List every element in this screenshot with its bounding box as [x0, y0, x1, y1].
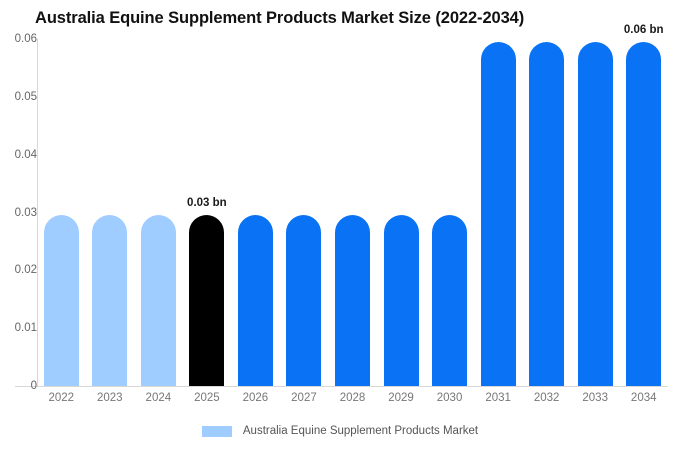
x-axis-tick-label: 2031 [473, 392, 523, 404]
bar[interactable] [92, 215, 127, 386]
bar-value-label: 0.06 bn [624, 24, 664, 36]
bar[interactable] [335, 215, 370, 386]
x-axis-tick-label: 2028 [328, 392, 378, 404]
x-axis-tick-label: 2026 [230, 392, 280, 404]
plot-area: 00.010.020.030.040.050.06 0.03 bn0.06 bn [37, 39, 668, 386]
y-axis: 00.010.020.030.040.050.06 [0, 39, 37, 386]
x-axis-tick-label: 2029 [376, 392, 426, 404]
bar[interactable] [286, 215, 321, 386]
y-axis-tick-label: 0.05 [0, 91, 37, 103]
x-axis-tick-label: 2032 [522, 392, 572, 404]
x-axis-line [15, 386, 668, 387]
y-axis-tick-label: 0.04 [0, 149, 37, 161]
y-axis-tick-label: 0 [0, 380, 37, 392]
y-axis-tick-label: 0.06 [0, 33, 37, 45]
bar-group [529, 39, 564, 386]
chart-title: Australia Equine Supplement Products Mar… [35, 9, 524, 28]
x-axis-tick-label: 2022 [36, 392, 86, 404]
x-axis-tick-label: 2027 [279, 392, 329, 404]
bar-group [92, 39, 127, 386]
bar[interactable] [384, 215, 419, 386]
bar-group [432, 39, 467, 386]
bar-group [141, 39, 176, 386]
bar-value-label: 0.03 bn [187, 197, 227, 209]
bar-group [238, 39, 273, 386]
y-axis-tick-label: 0.02 [0, 264, 37, 276]
x-axis-tick-label: 2023 [85, 392, 135, 404]
bar-group [335, 39, 370, 386]
bar[interactable] [432, 215, 467, 386]
legend-item-label: Australia Equine Supplement Products Mar… [243, 425, 478, 437]
legend-item[interactable]: Australia Equine Supplement Products Mar… [202, 425, 478, 437]
bar[interactable] [626, 42, 661, 386]
bar-group [384, 39, 419, 386]
chart-legend: Australia Equine Supplement Products Mar… [0, 425, 680, 437]
bar[interactable] [238, 215, 273, 386]
bar[interactable] [578, 42, 613, 386]
bar-group: 0.06 bn [626, 39, 661, 386]
bar[interactable] [44, 215, 79, 386]
bar-group [44, 39, 79, 386]
bar-group [481, 39, 516, 386]
bar[interactable] [529, 42, 564, 386]
x-axis-tick-label: 2030 [425, 392, 475, 404]
y-axis-tick-label: 0.01 [0, 322, 37, 334]
x-axis-tick-label: 2034 [619, 392, 669, 404]
y-axis-tick-label: 0.03 [0, 207, 37, 219]
legend-color-swatch [202, 426, 232, 437]
bar-chart: Australia Equine Supplement Products Mar… [0, 0, 680, 450]
bar[interactable] [481, 42, 516, 386]
x-axis-tick-label: 2025 [182, 392, 232, 404]
bar-group [286, 39, 321, 386]
x-axis-tick-label: 2024 [133, 392, 183, 404]
bar-group [578, 39, 613, 386]
x-axis-tick-label: 2033 [570, 392, 620, 404]
bar[interactable] [141, 215, 176, 386]
bar[interactable] [189, 215, 224, 386]
bar-group: 0.03 bn [189, 39, 224, 386]
